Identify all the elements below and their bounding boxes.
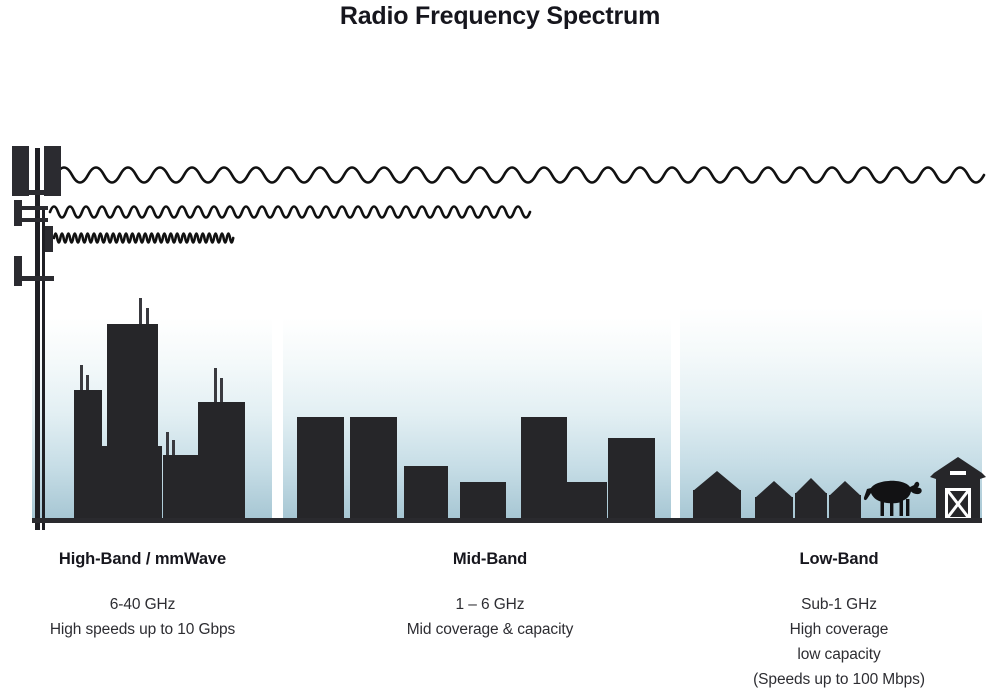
column-description-mid-band: 1 – 6 GHz Mid coverage & capacity — [345, 592, 635, 642]
cow-icon — [860, 477, 926, 521]
house-3 — [795, 478, 827, 520]
desc-line: High speeds up to 10 Gbps — [0, 617, 285, 642]
infographic-canvas: Radio Frequency Spectrum — [0, 0, 1000, 700]
desc-line: Sub-1 GHz — [694, 592, 984, 617]
mid-frequency-wave — [50, 207, 530, 218]
antenna-panel-middle-right — [45, 226, 53, 252]
desc-line: Mid coverage & capacity — [345, 617, 635, 642]
house-body — [829, 495, 861, 520]
desc-line: 6-40 GHz — [0, 592, 285, 617]
tower-crossarm-middle-upper — [14, 206, 48, 210]
antenna-panel-middle — [14, 200, 22, 226]
house-roof — [795, 478, 827, 494]
house-roof — [755, 481, 793, 498]
house-body — [755, 497, 793, 520]
page-title: Radio Frequency Spectrum — [0, 2, 1000, 31]
tower-crossarm-middle-lower — [14, 218, 48, 222]
antenna-panel-lower — [14, 256, 22, 286]
building-high-4 — [163, 455, 245, 520]
building-mid-4 — [460, 482, 506, 520]
desc-line: (Speeds up to 100 Mbps) — [694, 667, 984, 692]
radio-waves-group — [0, 130, 1000, 260]
column-heading-high-band: High-Band / mmWave — [0, 550, 285, 569]
desc-line: low capacity — [694, 642, 984, 667]
desc-line: 1 – 6 GHz — [345, 592, 635, 617]
high-frequency-wave — [54, 234, 233, 243]
desc-line: High coverage — [694, 617, 984, 642]
antenna-panel-top-right — [44, 146, 61, 196]
building-mid-2 — [350, 417, 397, 520]
building-mid-3 — [404, 466, 448, 520]
building-high-1 — [74, 390, 102, 520]
building-spire — [214, 368, 217, 404]
cell-tower — [0, 138, 60, 528]
building-spire — [166, 432, 169, 456]
low-frequency-wave — [56, 168, 984, 183]
tower-crossarm-lower — [14, 276, 54, 281]
house-body — [693, 490, 741, 520]
house-1 — [693, 471, 741, 520]
column-description-low-band: Sub-1 GHz High coverage low capacity (Sp… — [694, 592, 984, 692]
antenna-panel-top-left — [12, 146, 29, 196]
building-high-2-base — [102, 446, 162, 520]
building-spire — [146, 308, 149, 325]
tower-crossarm-top — [12, 190, 61, 195]
building-mid-6 — [567, 482, 607, 520]
house-body — [795, 493, 827, 520]
building-spire — [220, 378, 223, 404]
column-description-high-band: 6-40 GHz High speeds up to 10 Gbps — [0, 592, 285, 642]
building-spire — [172, 440, 175, 456]
house-roof — [693, 471, 741, 491]
tower-mast-secondary — [42, 208, 45, 530]
ground-line — [32, 518, 982, 523]
house-2 — [755, 481, 793, 520]
building-mid-7 — [608, 438, 655, 520]
column-heading-low-band: Low-Band — [694, 550, 984, 569]
building-spire — [139, 298, 142, 325]
house-4 — [829, 481, 861, 520]
barn-icon — [928, 457, 988, 520]
building-mid-5 — [521, 417, 567, 520]
house-roof — [829, 481, 861, 496]
column-heading-mid-band: Mid-Band — [345, 550, 635, 569]
building-mid-1 — [297, 417, 344, 520]
